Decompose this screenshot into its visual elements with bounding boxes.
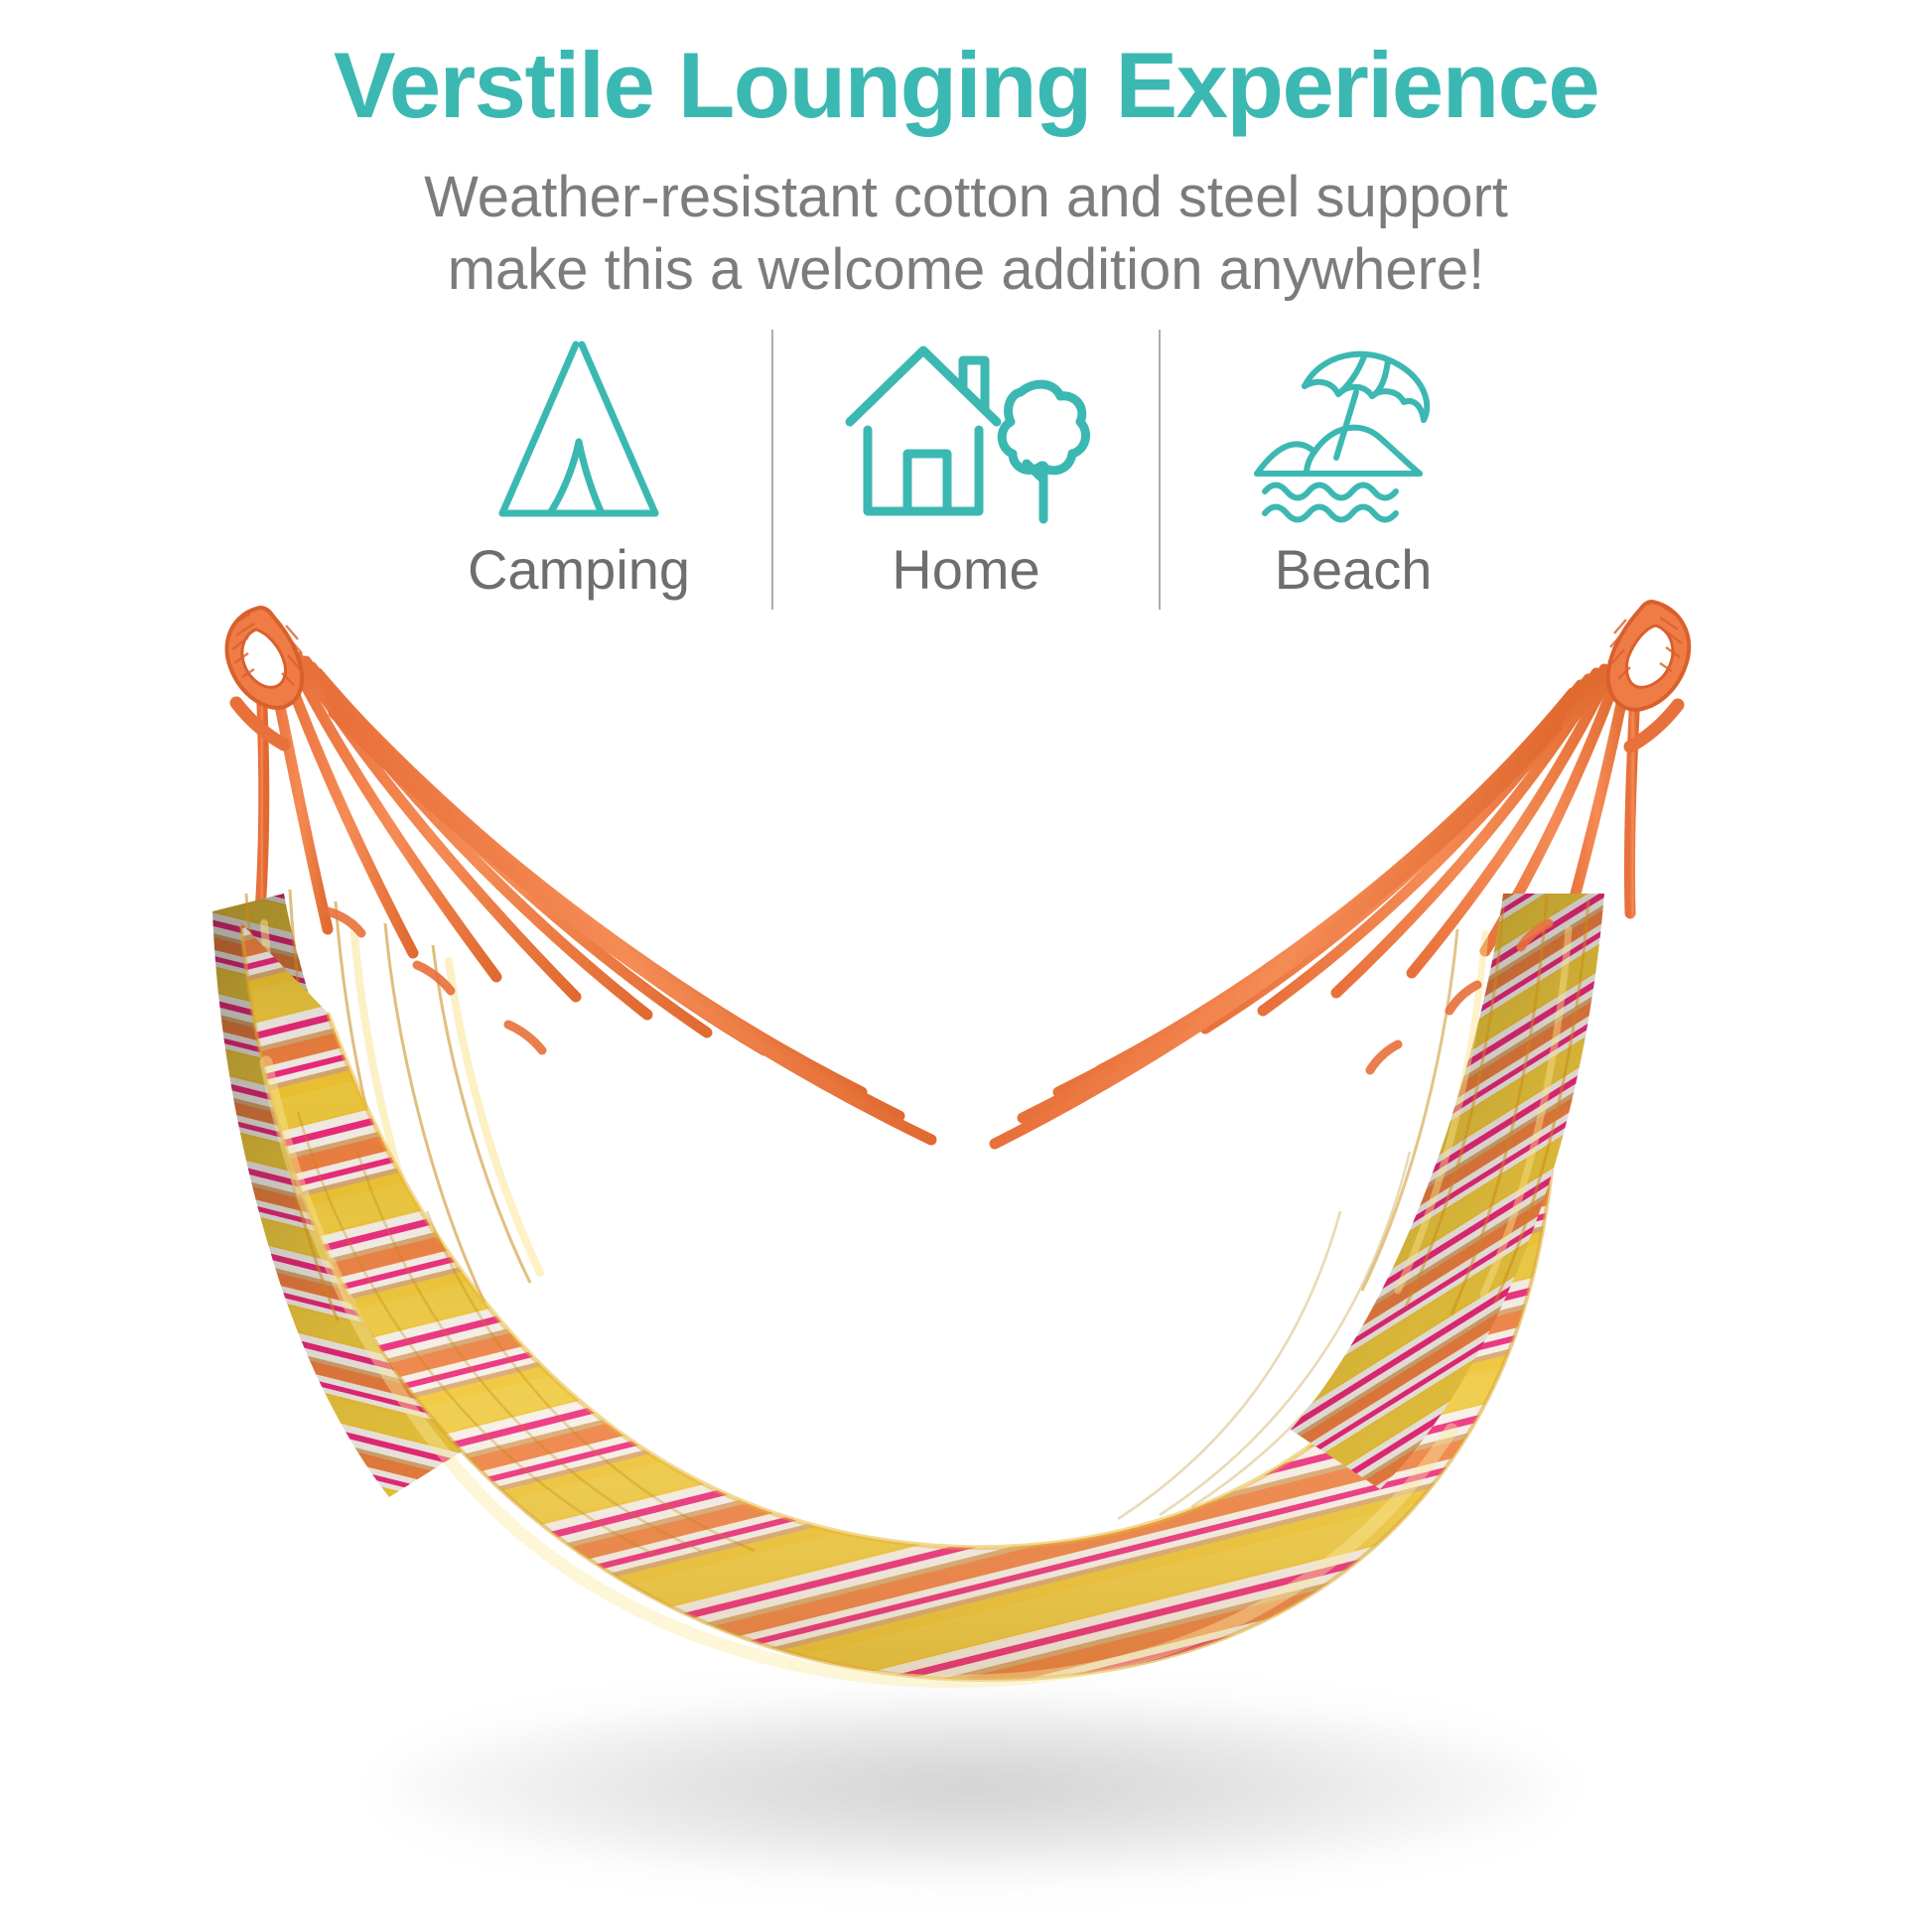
product-image-stage [0,596,1932,1932]
house-tree-icon [840,326,1093,534]
subtitle-line-2: make this a welcome addition anywhere! [380,233,1552,307]
feature-item-beach: Beach [1204,326,1502,623]
feature-item-camping: Camping [430,326,728,623]
subtitle: Weather-resistant cotton and steel suppo… [380,135,1552,307]
feature-row: Camping [0,326,1932,623]
hammock-illustration [0,596,1932,1932]
feature-label-camping: Camping [468,542,690,598]
hammock-loop-knot-left [227,608,303,745]
header: Verstile Lounging Experience Weather-res… [0,0,1932,307]
tent-icon [465,326,693,534]
feature-label-beach: Beach [1275,542,1433,598]
product-feature-card: Verstile Lounging Experience Weather-res… [0,0,1932,1932]
feature-divider-2 [1159,330,1161,610]
beach-umbrella-icon [1249,326,1457,534]
feature-item-home: Home [817,326,1115,623]
feature-label-home: Home [892,542,1039,598]
hammock-cord-group-left [260,655,931,1140]
subtitle-line-1: Weather-resistant cotton and steel suppo… [380,161,1552,234]
feature-divider-1 [771,330,773,610]
page-title: Verstile Lounging Experience [0,0,1932,135]
